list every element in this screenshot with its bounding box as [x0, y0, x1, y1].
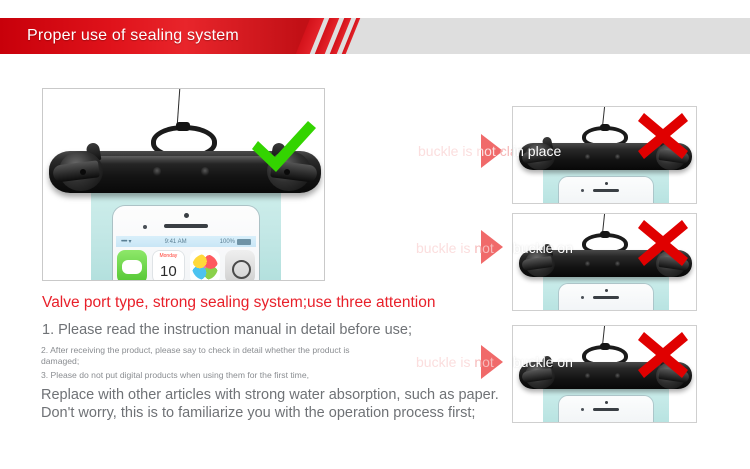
- caption-faint-1: buckle is not: [418, 143, 496, 159]
- status-bar-time: 9:41 AM: [165, 239, 187, 245]
- panel-buckle-not-on: [512, 213, 697, 311]
- phone-inside-pouch: ••••• ▾ 9:41 AM 100% Monday 10: [113, 206, 259, 281]
- panel-caption-visible-2: buckle on: [513, 240, 573, 256]
- main-product-photo: ••••• ▾ 9:41 AM 100% Monday 10: [42, 88, 325, 281]
- phone-status-bar: ••••• ▾ 9:41 AM 100%: [116, 236, 256, 247]
- lanyard-knot: [176, 122, 190, 131]
- phone-sensor: [581, 408, 584, 411]
- caption-faint-2: buckle is: [416, 240, 470, 256]
- phone-front-camera-icon: [605, 289, 608, 292]
- battery-icon: [237, 239, 251, 245]
- instruction-item-1: 1. Please read the instruction manual in…: [42, 322, 412, 338]
- panel-caption-faded-2: buckle is not: [416, 240, 494, 256]
- phone-sensor: [581, 189, 584, 192]
- lanyard-knot: [600, 343, 610, 350]
- header-banner: Proper use of sealing system: [0, 18, 750, 54]
- phone-front-camera-icon: [605, 182, 608, 185]
- clamp-pivot-left: [80, 169, 86, 175]
- green-check-icon: [248, 117, 320, 179]
- caption-mid-3: not: [474, 354, 493, 370]
- calendar-app-icon: Monday 10: [152, 250, 184, 281]
- phone-app-icon: [117, 250, 147, 281]
- phone-earpiece: [593, 189, 619, 192]
- caption-mid-2: not: [474, 240, 493, 256]
- caption-faint-3: buckle is: [416, 354, 470, 370]
- valve-port-2: [615, 373, 620, 379]
- valve-port-1: [153, 167, 161, 176]
- panel-caption-visible-1: in place: [513, 143, 561, 159]
- calendar-weekday-label: Monday: [153, 251, 183, 262]
- valve-port-1: [585, 261, 590, 267]
- phone-app-row: Monday 10: [117, 250, 255, 281]
- instruction-small-block: 2. After receiving the product, please s…: [41, 345, 371, 384]
- phone-sensor: [143, 225, 147, 229]
- phone-earpiece: [593, 296, 619, 299]
- phone-inside-pouch: [559, 396, 653, 423]
- phone-inside-pouch: [559, 177, 653, 204]
- lanyard-knot: [600, 231, 610, 238]
- pouch-illustration: ••••• ▾ 9:41 AM 100% Monday 10: [43, 89, 324, 280]
- phone-inside-pouch: [559, 284, 653, 311]
- red-x-icon: [636, 111, 690, 161]
- panel-buckle-not-on-2: [512, 325, 697, 423]
- instruction-item-3: 3. Please do not put digital products wh…: [41, 370, 371, 381]
- photos-app-icon: [190, 250, 220, 281]
- red-x-icon: [636, 330, 690, 380]
- valve-port-2: [201, 167, 209, 176]
- phone-front-camera-icon: [184, 213, 189, 218]
- calendar-day-number: 10: [153, 262, 183, 281]
- phone-earpiece: [164, 224, 208, 228]
- wifi-icon: ▾: [129, 238, 132, 245]
- panel-caption-faded-3: buckle is not: [416, 354, 494, 370]
- instruction-paragraph: Replace with other articles with strong …: [41, 386, 511, 422]
- battery-percent-label: 100%: [220, 239, 235, 245]
- panel-caption-visible-3: buckle on: [513, 354, 573, 370]
- valve-port-2: [615, 261, 620, 267]
- phone-front-camera-icon: [605, 401, 608, 404]
- valve-port-1: [585, 154, 590, 160]
- signal-dots-icon: •••••: [121, 239, 127, 245]
- red-x-icon: [636, 218, 690, 268]
- valve-port-1: [585, 373, 590, 379]
- page-title: Proper use of sealing system: [27, 18, 239, 54]
- phone-earpiece: [593, 408, 619, 411]
- valve-port-2: [615, 154, 620, 160]
- lanyard-knot: [600, 124, 610, 131]
- instruction-item-2: 2. After receiving the product, please s…: [41, 345, 371, 367]
- page-root: Proper use of sealing system ••••• ▾ 9:4…: [0, 0, 750, 469]
- camera-app-icon: [225, 250, 255, 281]
- phone-sensor: [581, 296, 584, 299]
- section-headline: Valve port type, strong sealing system;u…: [42, 294, 435, 312]
